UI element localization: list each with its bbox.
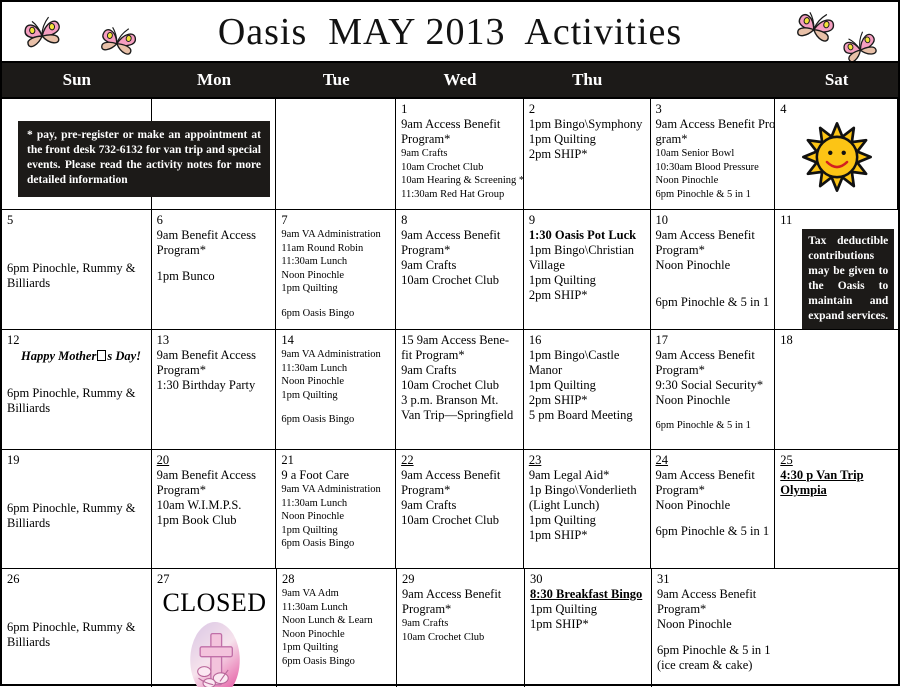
day-number: 31 [657, 572, 773, 586]
weekday-header-wed: Wed [396, 63, 524, 97]
day-number: 20 [157, 453, 272, 467]
event-item[interactable]: Van Trip—Springfield [401, 408, 519, 423]
event-item[interactable]: Program* [656, 483, 771, 498]
event-item[interactable]: Program* [401, 243, 519, 258]
calendar-day-cell-25[interactable]: 254:30 p Van TripOlympia [775, 450, 898, 568]
missing-glyph-icon [97, 350, 106, 361]
day-number: 10 [656, 213, 771, 227]
event-item[interactable]: fit Program* [401, 348, 519, 363]
event-list: 9am Legal Aid*1p Bingo\Vonderlieth(Light… [529, 468, 646, 543]
event-item[interactable]: 6pm Oasis Bingo [281, 307, 391, 321]
event-item[interactable]: 9am Benefit Access [157, 228, 272, 243]
calendar-day-cell-20[interactable]: 209am Benefit AccessProgram*10am W.I.M.P… [152, 450, 277, 568]
day-number: 30 [530, 572, 647, 586]
event-spacer [7, 609, 147, 620]
event-item[interactable]: Manor [529, 363, 646, 378]
event-list: 1:30 Oasis Pot Luck1pm Bingo\ChristianVi… [529, 228, 646, 303]
event-item[interactable]: 2pm SHIP* [529, 288, 646, 303]
event-item[interactable]: Noon Lunch & Learn [282, 614, 392, 628]
event-item[interactable]: 6pm Oasis Bingo [282, 655, 392, 669]
event-item[interactable]: Noon Pinochle [656, 258, 771, 273]
event-item[interactable]: 2pm SHIP* [529, 147, 646, 162]
event-item[interactable]: 1pm Book Club [157, 513, 272, 528]
event-spacer [7, 250, 147, 261]
event-spacer [7, 490, 147, 501]
event-item[interactable]: 9am Access Benefit Pro- [656, 117, 771, 132]
event-list: 4:30 p Van TripOlympia [780, 468, 894, 498]
event-item[interactable]: 6pm Pinochle & 5 in 1 [656, 188, 771, 202]
event-item[interactable]: Billiards [7, 516, 147, 531]
event-item[interactable]: 9am Crafts [401, 258, 519, 273]
event-item[interactable]: 1pm Bingo\Castle [529, 348, 646, 363]
event-list: 9am VA Administration11am Round Robin11:… [281, 228, 391, 320]
event-item[interactable]: 9am Benefit Access [157, 348, 272, 363]
calendar-week-row: 5 6pm Pinochle, Rummy &Billiards69am Ben… [2, 210, 898, 330]
event-list: 9am Access BenefitProgram*Noon Pinochle … [656, 468, 771, 539]
day-number: 21 [281, 453, 391, 467]
event-item[interactable]: Program* [157, 363, 272, 378]
event-item[interactable]: Noon Pinochle [281, 269, 391, 283]
calendar-day-cell-8[interactable]: 89am Access BenefitProgram*9am Crafts10a… [396, 210, 524, 329]
event-list: 9am Access BenefitProgram*9am Crafts10am… [401, 468, 519, 528]
mothers-day-label: Happy Mothers Day! [7, 348, 147, 364]
event-list: 6pm Pinochle, Rummy &Billiards [7, 228, 147, 291]
event-item[interactable]: 9am Crafts [402, 617, 520, 631]
calendar-day-cell-10[interactable]: 109am Access BenefitProgram*Noon Pinochl… [651, 210, 776, 329]
event-item[interactable]: 8:30 Breakfast Bingo [530, 587, 647, 602]
event-item[interactable]: 9 a Foot Care [281, 468, 391, 483]
event-item[interactable]: 1pm Quilting [530, 602, 647, 617]
event-item[interactable]: 1pm Bingo\Christian [529, 243, 646, 258]
weekday-header-thu: Thu [524, 63, 651, 97]
weekday-header-tue: Tue [276, 63, 396, 97]
event-item[interactable]: 10am Crochet Club [401, 161, 519, 175]
event-item[interactable]: 9am VA Administration [281, 483, 391, 497]
event-item[interactable]: Program* [402, 602, 520, 617]
event-item[interactable]: 6pm Pinochle, Rummy & [7, 620, 147, 635]
event-item[interactable]: 10am Hearing & Screening * [401, 174, 519, 188]
event-item[interactable]: Noon Pinochle [656, 393, 771, 408]
event-item[interactable]: 1:30 Oasis Pot Luck [529, 228, 646, 243]
day-number: 27 [157, 572, 272, 586]
event-item[interactable]: Noon Pinochle [657, 617, 773, 632]
calendar-day-cell-11[interactable]: 11Tax deductible contributions may be gi… [775, 210, 898, 329]
event-list: 9am VA Adm11:30am LunchNoon Lunch & Lear… [282, 587, 392, 668]
day-number: 12 [7, 333, 147, 347]
event-list: 8:30 Breakfast Bingo1pm Quilting1pm SHIP… [530, 587, 647, 632]
calendar-day-cell-14[interactable]: 149am VA Administration11:30am LunchNoon… [276, 330, 396, 449]
calendar-page: Oasis MAY 2013 Activities [0, 0, 900, 686]
event-item[interactable]: Olympia [780, 483, 894, 498]
calendar-day-cell-19[interactable]: 19 6pm Pinochle, Rummy &Billiards [2, 450, 152, 568]
event-item[interactable]: 1pm Quilting [281, 282, 391, 296]
event-list: 9am Access BenefitProgram*9am Crafts10am… [401, 117, 519, 201]
event-item[interactable]: (Light Lunch) [529, 498, 646, 513]
page-title: Oasis MAY 2013 Activities [218, 10, 682, 54]
event-spacer [656, 408, 771, 419]
event-item[interactable]: 10am Senior Bowl [656, 147, 771, 161]
event-item[interactable]: Program* [656, 363, 771, 378]
calendar-day-cell-21[interactable]: 219 a Foot Care9am VA Administration11:3… [276, 450, 396, 568]
calendar-day-cell-6[interactable]: 69am Benefit AccessProgram* 1pm Bunco [152, 210, 277, 329]
weekday-header-mon: Mon [152, 63, 277, 97]
event-list: 9am Access BenefitProgram*Noon Pinochle … [657, 587, 773, 673]
event-item[interactable]: Noon Pinochle [281, 375, 391, 389]
day-number: 17 [656, 333, 771, 347]
event-item[interactable]: 1pm Quilting [529, 132, 646, 147]
event-item[interactable]: Noon Pinochle [281, 510, 391, 524]
day-number: 25 [780, 453, 894, 467]
event-item[interactable]: 15 9am Access Bene- [401, 333, 519, 348]
event-item[interactable]: 9am Access Benefit [656, 228, 771, 243]
event-list: 1pm Bingo\CastleManor1pm Quilting2pm SHI… [529, 348, 646, 423]
event-item[interactable]: 6pm Pinochle, Rummy & [7, 261, 147, 276]
event-item[interactable]: 1pm Quilting [282, 641, 392, 655]
event-list: 6pm Pinochle, Rummy &Billiards [7, 364, 147, 416]
event-list: 6pm Pinochle, Rummy &Billiards [7, 587, 147, 650]
day-number: 18 [780, 333, 894, 347]
event-item[interactable]: 6pm Oasis Bingo [281, 537, 391, 551]
event-item[interactable]: 10am Crochet Club [401, 273, 519, 288]
calendar-day-cell-23[interactable]: 239am Legal Aid*1p Bingo\Vonderlieth(Lig… [524, 450, 651, 568]
event-item[interactable]: 1:30 Birthday Party [157, 378, 272, 393]
day-number: 4 [780, 102, 893, 116]
event-item[interactable]: 9am VA Administration [281, 348, 391, 362]
closed-label: CLOSED [157, 588, 272, 618]
event-item[interactable]: 9am Benefit Access [157, 468, 272, 483]
weekday-header-sat: Sat [775, 63, 898, 97]
event-list: 9am Benefit AccessProgram* 1pm Bunco [157, 228, 272, 284]
event-spacer [7, 364, 147, 375]
event-spacer [7, 228, 147, 239]
event-item[interactable]: 11:30am Lunch [281, 497, 391, 511]
calendar-week-row: 26 6pm Pinochle, Rummy &Billiards27CLOSE… [2, 569, 898, 687]
day-number: 24 [656, 453, 771, 467]
day-number: 19 [7, 453, 147, 467]
calendar-day-cell-28[interactable]: 289am VA Adm11:30am LunchNoon Lunch & Le… [277, 569, 397, 687]
event-list: 9am Access Benefit Pro-gram*10am Senior … [656, 117, 771, 201]
event-item[interactable]: 9am Access Benefit [402, 587, 520, 602]
calendar-title-bar: Oasis MAY 2013 Activities [2, 2, 898, 63]
event-list: 9am Benefit AccessProgram*10am W.I.M.P.S… [157, 468, 272, 528]
calendar-day-cell-16[interactable]: 161pm Bingo\CastleManor1pm Quilting2pm S… [524, 330, 651, 449]
event-item[interactable]: 1pm Quilting [529, 513, 646, 528]
event-spacer [656, 273, 771, 284]
calendar-week-row: 19 6pm Pinochle, Rummy &Billiards209am B… [2, 450, 898, 569]
event-item[interactable]: 2pm SHIP* [529, 393, 646, 408]
event-item[interactable]: Program* [157, 483, 272, 498]
event-list: 6pm Pinochle, Rummy &Billiards [7, 468, 147, 531]
event-item[interactable]: 6pm Pinochle & 5 in 1 [656, 524, 771, 539]
calendar-day-cell-17[interactable]: 179am Access BenefitProgram*9:30 Social … [651, 330, 776, 449]
day-number: 29 [402, 572, 520, 586]
event-item[interactable]: 1pm Quilting [281, 389, 391, 403]
event-spacer [7, 468, 147, 479]
calendar-day-cell-4[interactable]: 4 [775, 99, 898, 209]
event-item[interactable]: Village [529, 258, 646, 273]
event-item[interactable]: 9am Access Benefit [401, 117, 519, 132]
day-number: 8 [401, 213, 519, 227]
day-number: 14 [281, 333, 391, 347]
event-item[interactable]: 11am Round Robin [281, 242, 391, 256]
event-item[interactable]: 9am Legal Aid* [529, 468, 646, 483]
event-item[interactable]: 9am Crafts [401, 363, 519, 378]
event-item[interactable]: 1pm Quilting [529, 273, 646, 288]
event-item[interactable]: 6pm Pinochle & 5 in 1 [656, 295, 771, 310]
calendar-grid: 19am Access BenefitProgram*9am Crafts10a… [2, 99, 898, 687]
smiling-sun-icon [780, 120, 893, 194]
mothers-day-text-suffix: s Day! [107, 349, 141, 363]
butterfly-icon [788, 3, 843, 55]
butterfly-icon [835, 24, 888, 63]
calendar-day-cell-27[interactable]: 27CLOSED [152, 569, 277, 687]
event-item[interactable]: (ice cream & cake) [657, 658, 773, 673]
event-list: 15 9am Access Bene-fit Program*9am Craft… [401, 333, 519, 423]
event-item[interactable]: 9am Access Benefit [657, 587, 773, 602]
event-list: 9am Access BenefitProgram*9:30 Social Se… [656, 348, 771, 433]
event-item[interactable]: 9am Access Benefit [656, 348, 771, 363]
day-number: 6 [157, 213, 272, 227]
day-number: 23 [529, 453, 646, 467]
event-list: 9am Access BenefitProgram*Noon Pinochle … [656, 228, 771, 310]
weekday-header-blank [651, 63, 776, 97]
event-item[interactable]: 1pm Bunco [157, 269, 272, 284]
event-item[interactable]: Billiards [7, 276, 147, 291]
event-item[interactable]: 1pm Quilting [281, 524, 391, 538]
calendar-day-cell-18[interactable]: 18 [775, 330, 898, 449]
day-number: 9 [529, 213, 646, 227]
tax-deductible-note: Tax deductible contributions may be give… [802, 229, 894, 329]
event-item[interactable]: 3 p.m. Branson Mt. [401, 393, 519, 408]
event-item[interactable]: 4:30 p Van Trip [780, 468, 894, 483]
day-number: 22 [401, 453, 519, 467]
event-spacer [7, 375, 147, 386]
event-list: 9am VA Administration11:30am LunchNoon P… [281, 348, 391, 427]
event-item[interactable]: Program* [657, 602, 773, 617]
asterisk-legend-note: * pay, pre-register or make an appointme… [18, 121, 270, 197]
event-item[interactable]: 11:30am Red Hat Group [401, 188, 519, 202]
event-list: 9am Access BenefitProgram*9am Crafts10am… [401, 228, 519, 288]
calendar-day-cell-1[interactable]: 19am Access BenefitProgram*9am Crafts10a… [396, 99, 524, 209]
butterfly-icon [17, 11, 68, 59]
event-spacer [281, 402, 391, 413]
calendar-day-cell-31[interactable]: 319am Access BenefitProgram*Noon Pinochl… [652, 569, 777, 687]
event-item[interactable]: 1p Bingo\Vonderlieth [529, 483, 646, 498]
event-spacer [657, 632, 773, 643]
calendar-week-row: 19am Access BenefitProgram*9am Crafts10a… [2, 99, 898, 210]
event-item[interactable]: 6pm Pinochle, Rummy & [7, 501, 147, 516]
event-item[interactable]: 9am VA Adm [282, 587, 392, 601]
event-item[interactable]: 1pm SHIP* [529, 528, 646, 543]
weekday-header-row: SunMonTueWedThuSat [2, 63, 898, 99]
event-item[interactable]: 6pm Oasis Bingo [281, 413, 391, 427]
event-spacer [281, 296, 391, 307]
event-list: 9am Access BenefitProgram*9am Crafts10am… [402, 587, 520, 644]
memorial-cross-flowers-icon [157, 620, 272, 687]
event-spacer [656, 284, 771, 295]
event-item[interactable]: gram* [656, 132, 771, 147]
calendar-day-cell-9[interactable]: 91:30 Oasis Pot Luck1pm Bingo\ChristianV… [524, 210, 651, 329]
event-item[interactable]: 11:30am Lunch [281, 255, 391, 269]
event-item[interactable]: Billiards [7, 635, 147, 650]
butterfly-icon [92, 19, 143, 63]
day-number: 1 [401, 102, 519, 116]
day-number: 26 [7, 572, 147, 586]
calendar-day-cell-2[interactable]: 21pm Bingo\Symphony1pm Quilting2pm SHIP* [524, 99, 651, 209]
event-list: 9 a Foot Care9am VA Administration11:30a… [281, 468, 391, 551]
calendar-week-row: 12Happy Mothers Day! 6pm Pinochle, Rummy… [2, 330, 898, 450]
event-item[interactable]: 11:30am Lunch [282, 601, 392, 615]
event-item[interactable]: Billiards [7, 401, 147, 416]
event-spacer [7, 587, 147, 598]
calendar-day-cell-12[interactable]: 12Happy Mothers Day! 6pm Pinochle, Rummy… [2, 330, 152, 449]
mothers-day-text-prefix: Happy Mother [21, 349, 96, 363]
calendar-day-cell-24[interactable]: 249am Access BenefitProgram*Noon Pinochl… [651, 450, 776, 568]
event-item[interactable]: 10am Crochet Club [401, 513, 519, 528]
event-item[interactable]: 10am Crochet Club [402, 631, 520, 645]
event-list: 1pm Bingo\Symphony1pm Quilting2pm SHIP* [529, 117, 646, 162]
event-item[interactable]: Noon Pinochle [656, 498, 771, 513]
event-item[interactable]: 11:30am Lunch [281, 362, 391, 376]
day-number: 16 [529, 333, 646, 347]
day-number: 2 [529, 102, 646, 116]
calendar-day-cell-15[interactable]: 15 9am Access Bene-fit Program*9am Craft… [396, 330, 524, 449]
event-item[interactable]: 9:30 Social Security* [656, 378, 771, 393]
event-item[interactable]: 10am Crochet Club [401, 378, 519, 393]
day-number: 28 [282, 572, 392, 586]
event-item[interactable]: 9am Access Benefit [401, 228, 519, 243]
event-item[interactable]: 5 pm Board Meeting [529, 408, 646, 423]
day-number: 13 [157, 333, 272, 347]
event-item[interactable]: 1pm Quilting [529, 378, 646, 393]
calendar-day-cell-3[interactable]: 39am Access Benefit Pro-gram*10am Senior… [651, 99, 776, 209]
event-spacer [7, 239, 147, 250]
day-number: 5 [7, 213, 147, 227]
calendar-day-cell-7[interactable]: 79am VA Administration11am Round Robin11… [276, 210, 396, 329]
event-item[interactable]: Program* [157, 243, 272, 258]
event-item[interactable]: 1pm SHIP* [530, 617, 647, 632]
event-item[interactable]: 10:30am Blood Pressure [656, 161, 771, 175]
weekday-header-sun: Sun [2, 63, 152, 97]
event-list: 9am Benefit AccessProgram*1:30 Birthday … [157, 348, 272, 393]
event-item[interactable]: 10am W.I.M.P.S. [157, 498, 272, 513]
event-item[interactable]: 6pm Pinochle & 5 in 1 [656, 419, 771, 433]
event-item[interactable]: Noon Pinochle [282, 628, 392, 642]
calendar-day-cell-empty[interactable] [276, 99, 396, 209]
event-item[interactable]: 9am VA Administration [281, 228, 391, 242]
event-item[interactable]: Program* [401, 132, 519, 147]
calendar-day-cell-5[interactable]: 5 6pm Pinochle, Rummy &Billiards [2, 210, 152, 329]
calendar-day-cell-22[interactable]: 229am Access BenefitProgram*9am Crafts10… [396, 450, 524, 568]
calendar-day-cell-30[interactable]: 308:30 Breakfast Bingo1pm Quilting1pm SH… [525, 569, 652, 687]
day-number: 7 [281, 213, 391, 227]
event-item[interactable]: 6pm Pinochle, Rummy & [7, 386, 147, 401]
event-item[interactable]: 6pm Pinochle & 5 in 1 [657, 643, 773, 658]
event-item[interactable]: Noon Pinochle [656, 174, 771, 188]
event-item[interactable]: 9am Access Benefit [656, 468, 771, 483]
event-item[interactable]: 9am Crafts [401, 147, 519, 161]
event-spacer [7, 479, 147, 490]
event-spacer [7, 598, 147, 609]
event-item[interactable]: 9am Access Benefit [401, 468, 519, 483]
day-number: 3 [656, 102, 771, 116]
event-item[interactable]: Program* [401, 483, 519, 498]
event-spacer [656, 513, 771, 524]
day-number: 11 [780, 213, 894, 227]
event-spacer [157, 258, 272, 269]
calendar-day-cell-29[interactable]: 299am Access BenefitProgram*9am Crafts10… [397, 569, 525, 687]
calendar-day-cell-13[interactable]: 139am Benefit AccessProgram*1:30 Birthda… [152, 330, 277, 449]
event-item[interactable]: Program* [656, 243, 771, 258]
calendar-day-cell-26[interactable]: 26 6pm Pinochle, Rummy &Billiards [2, 569, 152, 687]
event-item[interactable]: 9am Crafts [401, 498, 519, 513]
event-item[interactable]: 1pm Bingo\Symphony [529, 117, 646, 132]
